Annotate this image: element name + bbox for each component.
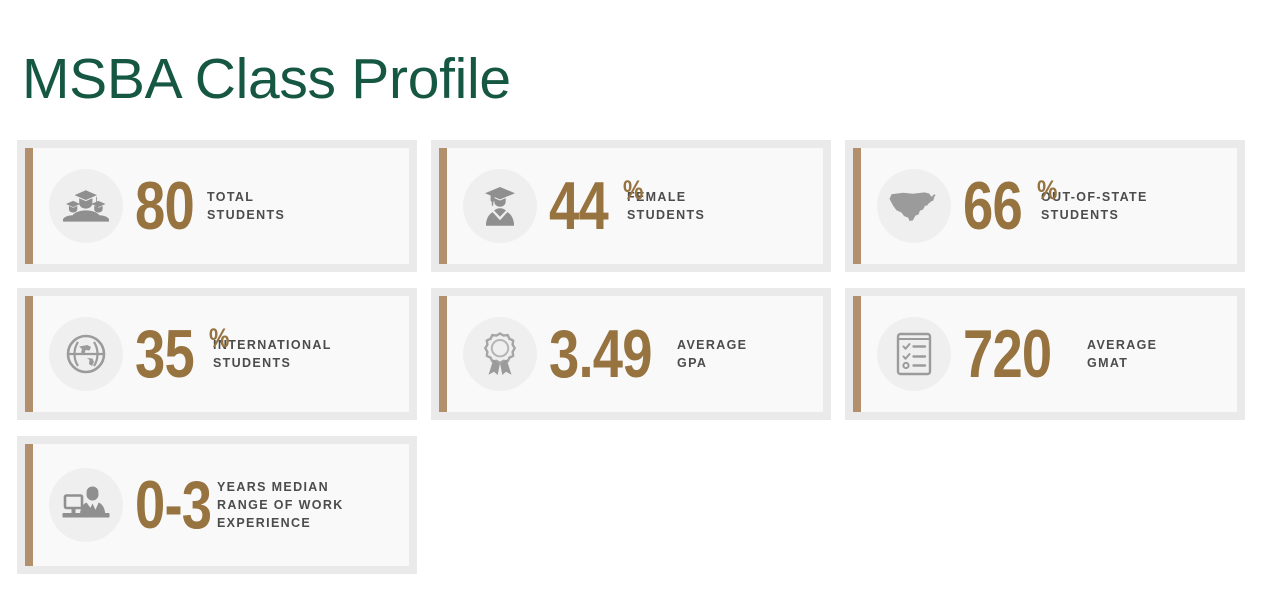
stat-label: AVERAGE GPA [677, 336, 823, 372]
stat-card-inner: 35 % INTERNATIONAL STUDENTS [25, 296, 409, 412]
stat-value-block: 66 % [963, 173, 1041, 240]
stat-label: OUT-OF-STATE STUDENTS [1041, 188, 1213, 224]
stat-card-inner: 66 % OUT-OF-STATE STUDENTS [853, 148, 1237, 264]
stat-value-block: 720 [963, 321, 1087, 388]
checklist-clipboard-icon [877, 317, 951, 391]
stat-card-total-students: 80 TOTAL STUDENTS [17, 140, 417, 272]
stat-value: 80 [135, 173, 194, 240]
stat-value-block: 0-3 [135, 472, 217, 539]
stat-value: 66 [963, 173, 1022, 240]
page-title: MSBA Class Profile [22, 46, 511, 113]
stat-value-suffix: % [209, 325, 229, 352]
stat-value: 44 [549, 173, 608, 240]
stat-value-suffix: % [1037, 177, 1057, 204]
stat-card-inner: 0-3 YEARS MEDIAN RANGE OF WORK EXPERIENC… [25, 444, 409, 566]
female-graduate-icon [463, 169, 537, 243]
stats-grid: 80 TOTAL STUDENTS [17, 140, 1253, 574]
accent-bar [439, 148, 447, 264]
stat-label: TOTAL STUDENTS [207, 188, 357, 224]
accent-bar [439, 296, 447, 412]
stat-label: INTERNATIONAL STUDENTS [213, 336, 385, 372]
stat-value: 3.49 [549, 321, 652, 388]
stat-value-suffix: % [623, 177, 643, 204]
stat-value: 0-3 [135, 472, 211, 539]
stat-card-inner: 3.49 AVERAGE GPA [439, 296, 823, 412]
stat-label: AVERAGE GMAT [1087, 336, 1237, 372]
stat-value: 35 [135, 321, 194, 388]
stat-value-block: 35 % [135, 321, 213, 388]
globe-icon [49, 317, 123, 391]
stat-card-work-experience: 0-3 YEARS MEDIAN RANGE OF WORK EXPERIENC… [17, 436, 417, 574]
usa-map-icon [877, 169, 951, 243]
stat-card-inner: 44 % FEMALE STUDENTS [439, 148, 823, 264]
stat-value-block: 80 [135, 173, 207, 240]
office-worker-desk-icon [49, 468, 123, 542]
accent-bar [25, 148, 33, 264]
stat-card-average-gpa: 3.49 AVERAGE GPA [431, 288, 831, 420]
stat-value-block: 44 % [549, 173, 627, 240]
stat-value-block: 3.49 [549, 321, 677, 388]
accent-bar [853, 296, 861, 412]
stat-card-inner: 80 TOTAL STUDENTS [25, 148, 409, 264]
stat-label: FEMALE STUDENTS [627, 188, 777, 224]
award-ribbon-icon [463, 317, 537, 391]
stat-card-average-gmat: 720 AVERAGE GMAT [845, 288, 1245, 420]
accent-bar [25, 444, 33, 566]
stat-value: 720 [963, 321, 1051, 388]
stat-card-female-students: 44 % FEMALE STUDENTS [431, 140, 831, 272]
stat-card-inner: 720 AVERAGE GMAT [853, 296, 1237, 412]
stat-label: YEARS MEDIAN RANGE OF WORK EXPERIENCE [217, 478, 389, 532]
accent-bar [853, 148, 861, 264]
accent-bar [25, 296, 33, 412]
stat-card-out-of-state-students: 66 % OUT-OF-STATE STUDENTS [845, 140, 1245, 272]
class-profile-page: MSBA Class Profile [0, 0, 1267, 590]
stat-card-international-students: 35 % INTERNATIONAL STUDENTS [17, 288, 417, 420]
graduates-group-icon [49, 169, 123, 243]
